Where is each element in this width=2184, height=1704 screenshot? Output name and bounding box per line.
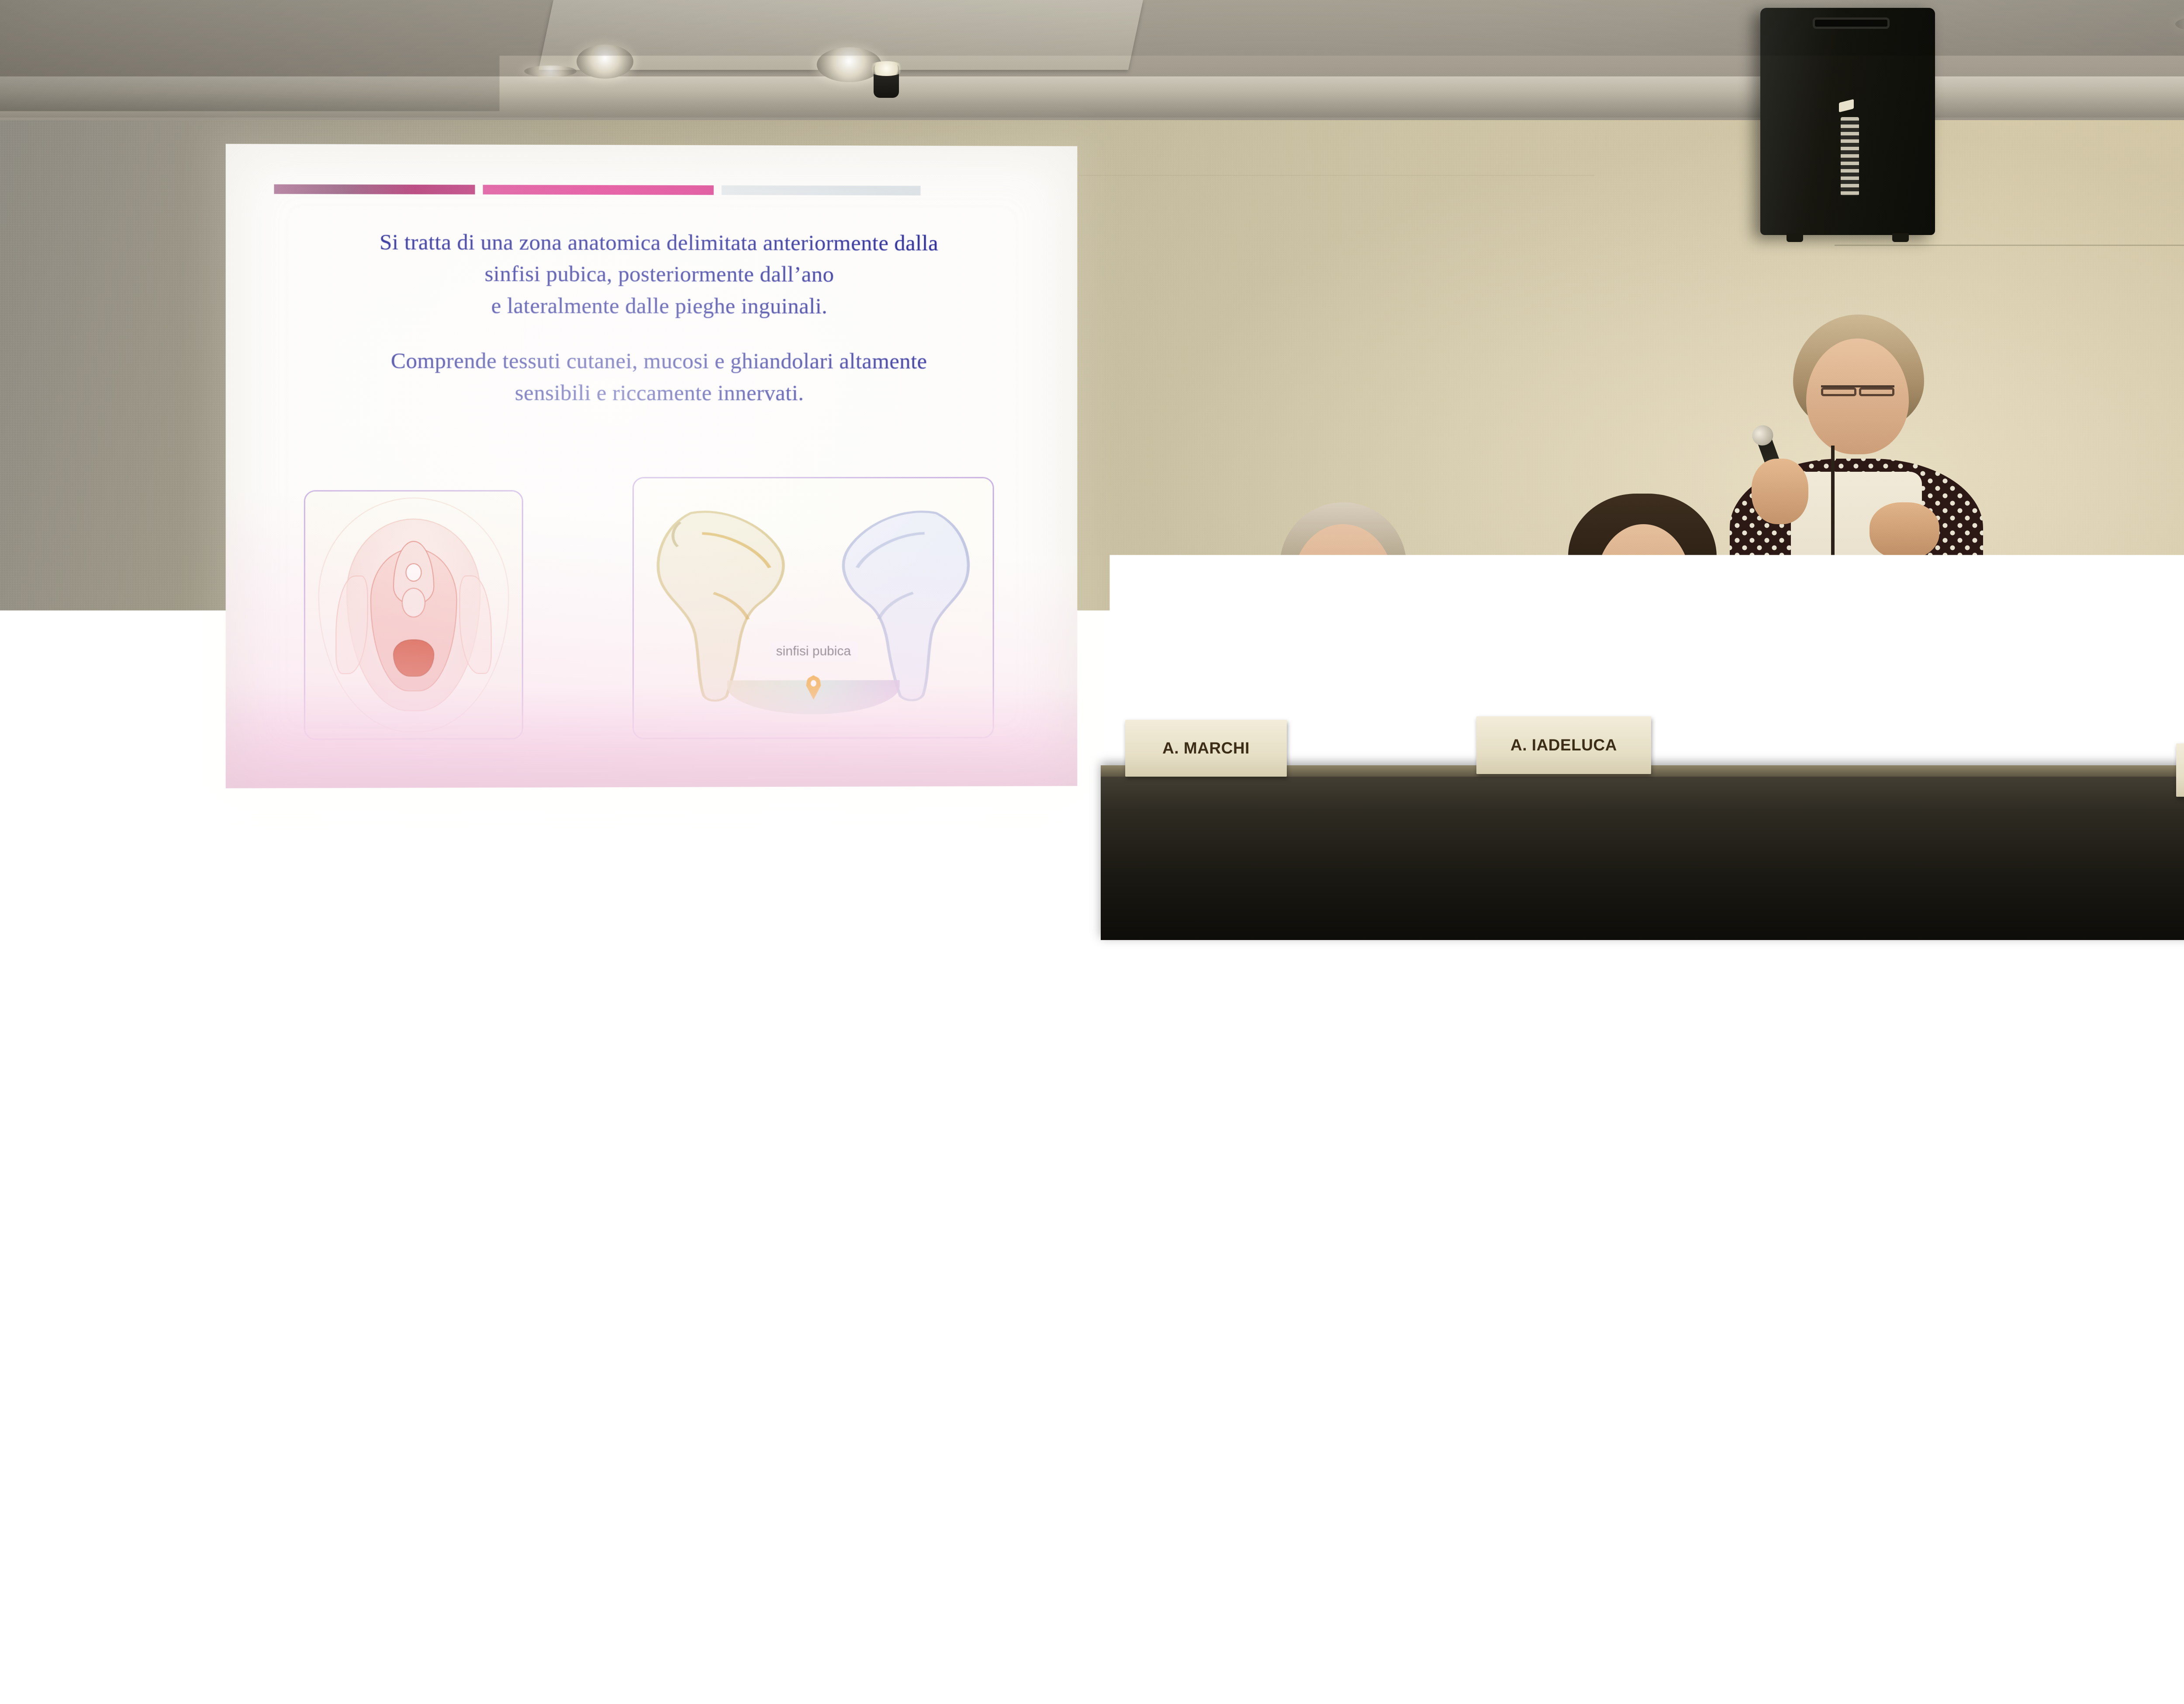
vaginal-introitus bbox=[393, 639, 434, 677]
accent-bar-pale bbox=[721, 185, 920, 195]
pa-speaker-foot bbox=[1787, 233, 1803, 242]
slide-bottom-glow bbox=[226, 684, 1078, 788]
pa-speaker-led bbox=[1839, 99, 1854, 112]
panelist-portinaro-glasses bbox=[1812, 376, 1904, 400]
wall-seam bbox=[1835, 245, 2184, 246]
flower-arrangement bbox=[2015, 703, 2071, 756]
slide-accent-bars bbox=[274, 184, 1042, 196]
panelist-portinaro-lanyard bbox=[1831, 446, 1835, 594]
pa-speaker-foot bbox=[1892, 233, 1909, 242]
flower-arrangement bbox=[1372, 716, 1428, 769]
nameplate-portinaro: E. PORTINARO bbox=[1752, 736, 1940, 790]
recessed-downlight bbox=[524, 66, 577, 77]
wall-seam bbox=[1079, 175, 1594, 176]
recessed-downlight bbox=[577, 45, 633, 79]
nameplate-marchi: A. MARCHI bbox=[1125, 720, 1287, 777]
panelist-portinaro-hand-right bbox=[1870, 502, 1939, 559]
drinking-glass bbox=[1992, 729, 2016, 764]
accent-bar-mauve bbox=[274, 184, 475, 194]
panel-table bbox=[1101, 765, 2184, 940]
hip-bone-left bbox=[652, 504, 795, 706]
nameplate-iadeluca: A. IADELUCA bbox=[1476, 716, 1651, 774]
slide-paragraph-1: Si tratta di una zona anatomica delimita… bbox=[274, 226, 1042, 322]
slide-body-text: Si tratta di una zona anatomica delimita… bbox=[274, 226, 1042, 409]
gooseneck-microphone bbox=[2145, 594, 2149, 769]
projection-screen: Si tratta di una zona anatomica delimita… bbox=[226, 144, 1078, 788]
slide-surface: Si tratta di una zona anatomica delimita… bbox=[226, 144, 1078, 788]
panelist-iadeluca-glasses bbox=[1603, 559, 1686, 581]
pa-speaker-handle bbox=[1813, 17, 1890, 29]
panelist-portinaro-badge bbox=[1803, 590, 1860, 668]
panelist-marchi-hands bbox=[1303, 646, 1379, 738]
panelist-marchi-glasses bbox=[1302, 561, 1385, 584]
track-spot-fixture bbox=[874, 64, 899, 98]
conference-photo: Si tratta di una zona anatomica delimita… bbox=[0, 0, 2184, 1704]
slide-paragraph-2: Comprende tessuti cutanei, mucosi e ghia… bbox=[274, 345, 1042, 409]
pa-speaker-grille bbox=[1841, 117, 1859, 196]
panelist-portinaro-hand-left bbox=[1752, 459, 1808, 524]
accent-bar-magenta bbox=[483, 185, 713, 195]
wall-pa-speaker bbox=[1760, 8, 1935, 235]
urethral-opening bbox=[402, 588, 426, 617]
hip-bone-right bbox=[832, 504, 975, 706]
gooseneck-microphone bbox=[1459, 581, 1463, 764]
nameplate-caruso: A. CARUSO bbox=[2176, 743, 2184, 797]
clitoris bbox=[405, 563, 422, 581]
water-bottle bbox=[1687, 650, 1707, 772]
sinfisi-pubica-label: sinfisi pubica bbox=[770, 642, 857, 662]
